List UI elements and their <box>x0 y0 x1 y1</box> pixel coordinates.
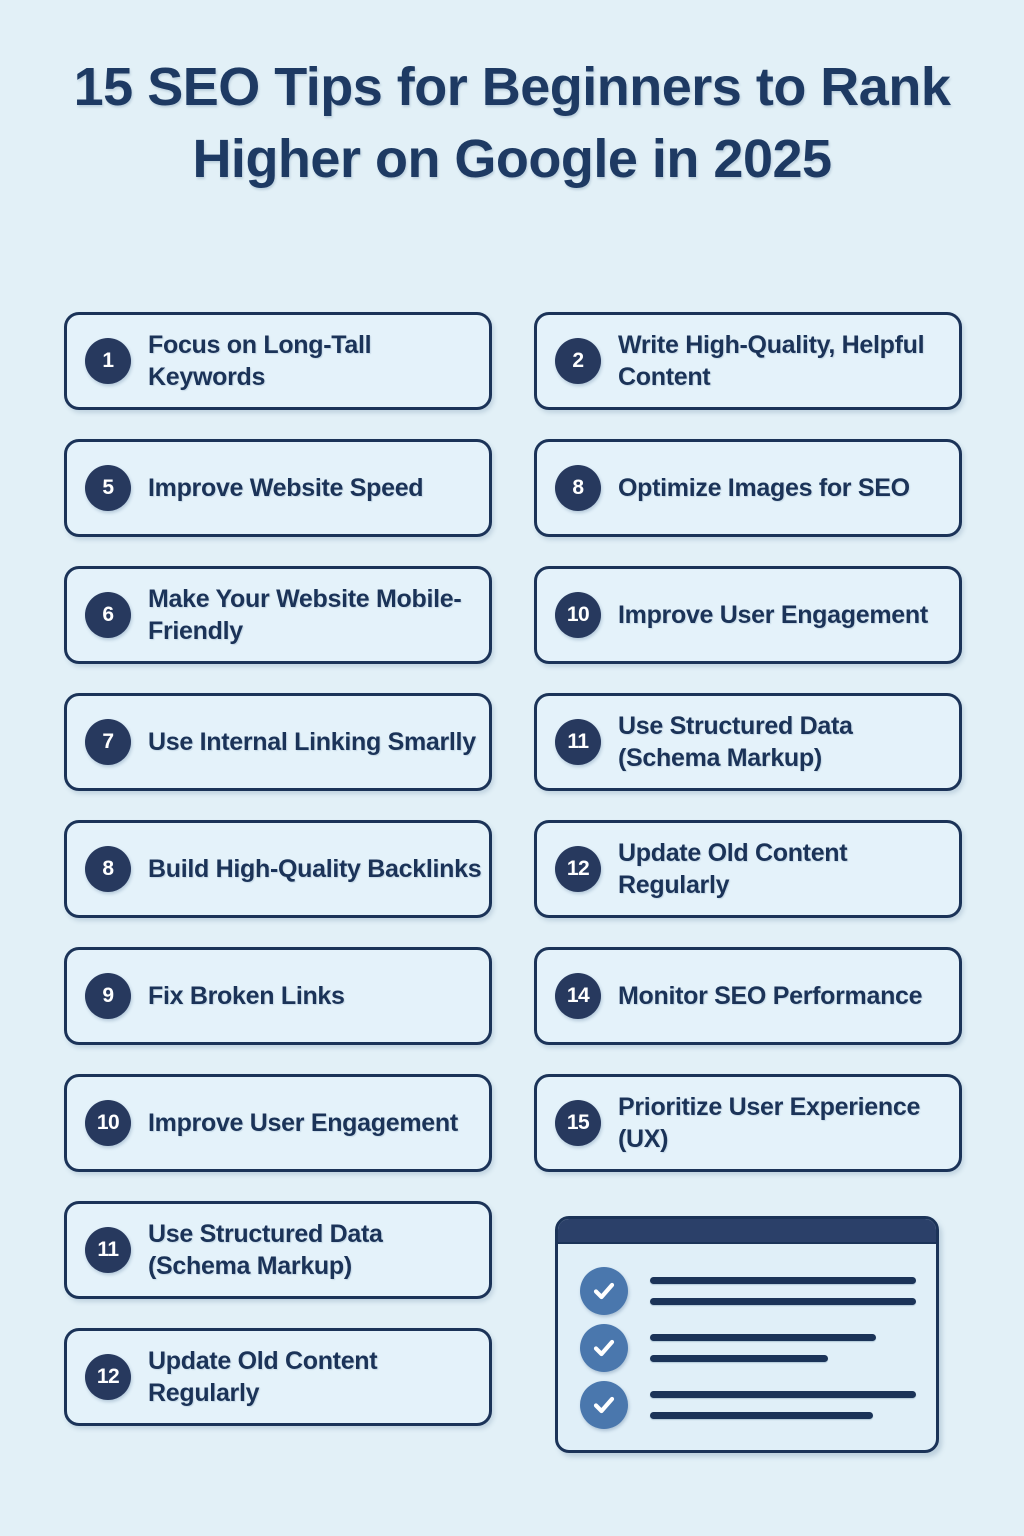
checklist-illustration <box>555 1216 939 1453</box>
tip-card[interactable]: 6Make Your Website Mobile-Friendly <box>64 566 492 664</box>
checklist-row <box>580 1267 916 1315</box>
tip-label: Improve User Engagement <box>618 599 928 632</box>
tip-card[interactable]: 11Use Structured Data (Schema Markup) <box>64 1201 492 1299</box>
tip-label: Improve Website Speed <box>148 472 423 505</box>
tip-label: Monitor SEO Performance <box>618 980 922 1013</box>
tip-label: Update Old Content Regularly <box>148 1345 489 1410</box>
tip-label: Build High-Quality Backlinks <box>148 853 481 886</box>
tip-card[interactable]: 10Improve User Engagement <box>534 566 962 664</box>
tip-label: Use Internal Linking Smarlly <box>148 726 476 759</box>
tip-card[interactable]: 1Focus on Long-Tall Keywords <box>64 312 492 410</box>
tips-column-right: 2Write High-Quality, Helpful Content8Opt… <box>534 312 962 1201</box>
tip-number-badge: 14 <box>555 973 601 1019</box>
tip-number-badge: 8 <box>555 465 601 511</box>
checklist-text-line <box>650 1277 916 1284</box>
tip-number-badge: 5 <box>85 465 131 511</box>
tip-card[interactable]: 12Update Old Content Regularly <box>534 820 962 918</box>
tip-card[interactable]: 14Monitor SEO Performance <box>534 947 962 1045</box>
tip-label: Use Structured Data (Schema Markup) <box>148 1218 489 1283</box>
checklist-header-bar <box>558 1219 936 1244</box>
check-icon <box>580 1324 628 1372</box>
tip-card[interactable]: 11Use Structured Data (Schema Markup) <box>534 693 962 791</box>
checklist-text-line <box>650 1391 916 1398</box>
tip-card[interactable]: 8Optimize Images for SEO <box>534 439 962 537</box>
tip-number-badge: 6 <box>85 592 131 638</box>
tip-number-badge: 8 <box>85 846 131 892</box>
tip-number-badge: 10 <box>555 592 601 638</box>
tip-card[interactable]: 12Update Old Content Regularly <box>64 1328 492 1426</box>
tip-number-badge: 9 <box>85 973 131 1019</box>
tip-label: Use Structured Data (Schema Markup) <box>618 710 959 775</box>
tip-card[interactable]: 8Build High-Quality Backlinks <box>64 820 492 918</box>
tip-card[interactable]: 10Improve User Engagement <box>64 1074 492 1172</box>
tip-label: Improve User Engagement <box>148 1107 458 1140</box>
checklist-text-lines <box>650 1334 916 1362</box>
checklist-text-line <box>650 1298 916 1305</box>
checklist-body <box>558 1244 936 1450</box>
tip-number-badge: 12 <box>555 846 601 892</box>
tip-label: Prioritize User Experience (UX) <box>618 1091 959 1156</box>
tip-label: Update Old Content Regularly <box>618 837 959 902</box>
checklist-text-lines <box>650 1391 916 1419</box>
tip-card[interactable]: 7Use Internal Linking Smarlly <box>64 693 492 791</box>
tip-card[interactable]: 5Improve Website Speed <box>64 439 492 537</box>
check-icon <box>580 1381 628 1429</box>
tips-column-left: 1Focus on Long-Tall Keywords5Improve Web… <box>64 312 492 1455</box>
checklist-row <box>580 1324 916 1372</box>
tip-label: Fix Broken Links <box>148 980 345 1013</box>
tip-number-badge: 2 <box>555 338 601 384</box>
tip-label: Focus on Long-Tall Keywords <box>148 329 489 394</box>
tip-label: Optimize Images for SEO <box>618 472 910 505</box>
tip-card[interactable]: 15Prioritize User Experience (UX) <box>534 1074 962 1172</box>
tip-number-badge: 11 <box>555 719 601 765</box>
check-icon <box>580 1267 628 1315</box>
tip-number-badge: 1 <box>85 338 131 384</box>
tip-label: Write High-Quality, Helpful Content <box>618 329 959 394</box>
checklist-text-line <box>650 1355 828 1362</box>
checklist-text-lines <box>650 1277 916 1305</box>
tip-label: Make Your Website Mobile-Friendly <box>148 583 489 648</box>
tip-number-badge: 7 <box>85 719 131 765</box>
tip-number-badge: 11 <box>85 1227 131 1273</box>
tip-card[interactable]: 9Fix Broken Links <box>64 947 492 1045</box>
tip-number-badge: 12 <box>85 1354 131 1400</box>
checklist-row <box>580 1381 916 1429</box>
page-title: 15 SEO Tips for Beginners to Rank Higher… <box>56 52 968 196</box>
checklist-text-line <box>650 1412 873 1419</box>
checklist-text-line <box>650 1334 876 1341</box>
tip-number-badge: 15 <box>555 1100 601 1146</box>
tip-card[interactable]: 2Write High-Quality, Helpful Content <box>534 312 962 410</box>
tip-number-badge: 10 <box>85 1100 131 1146</box>
